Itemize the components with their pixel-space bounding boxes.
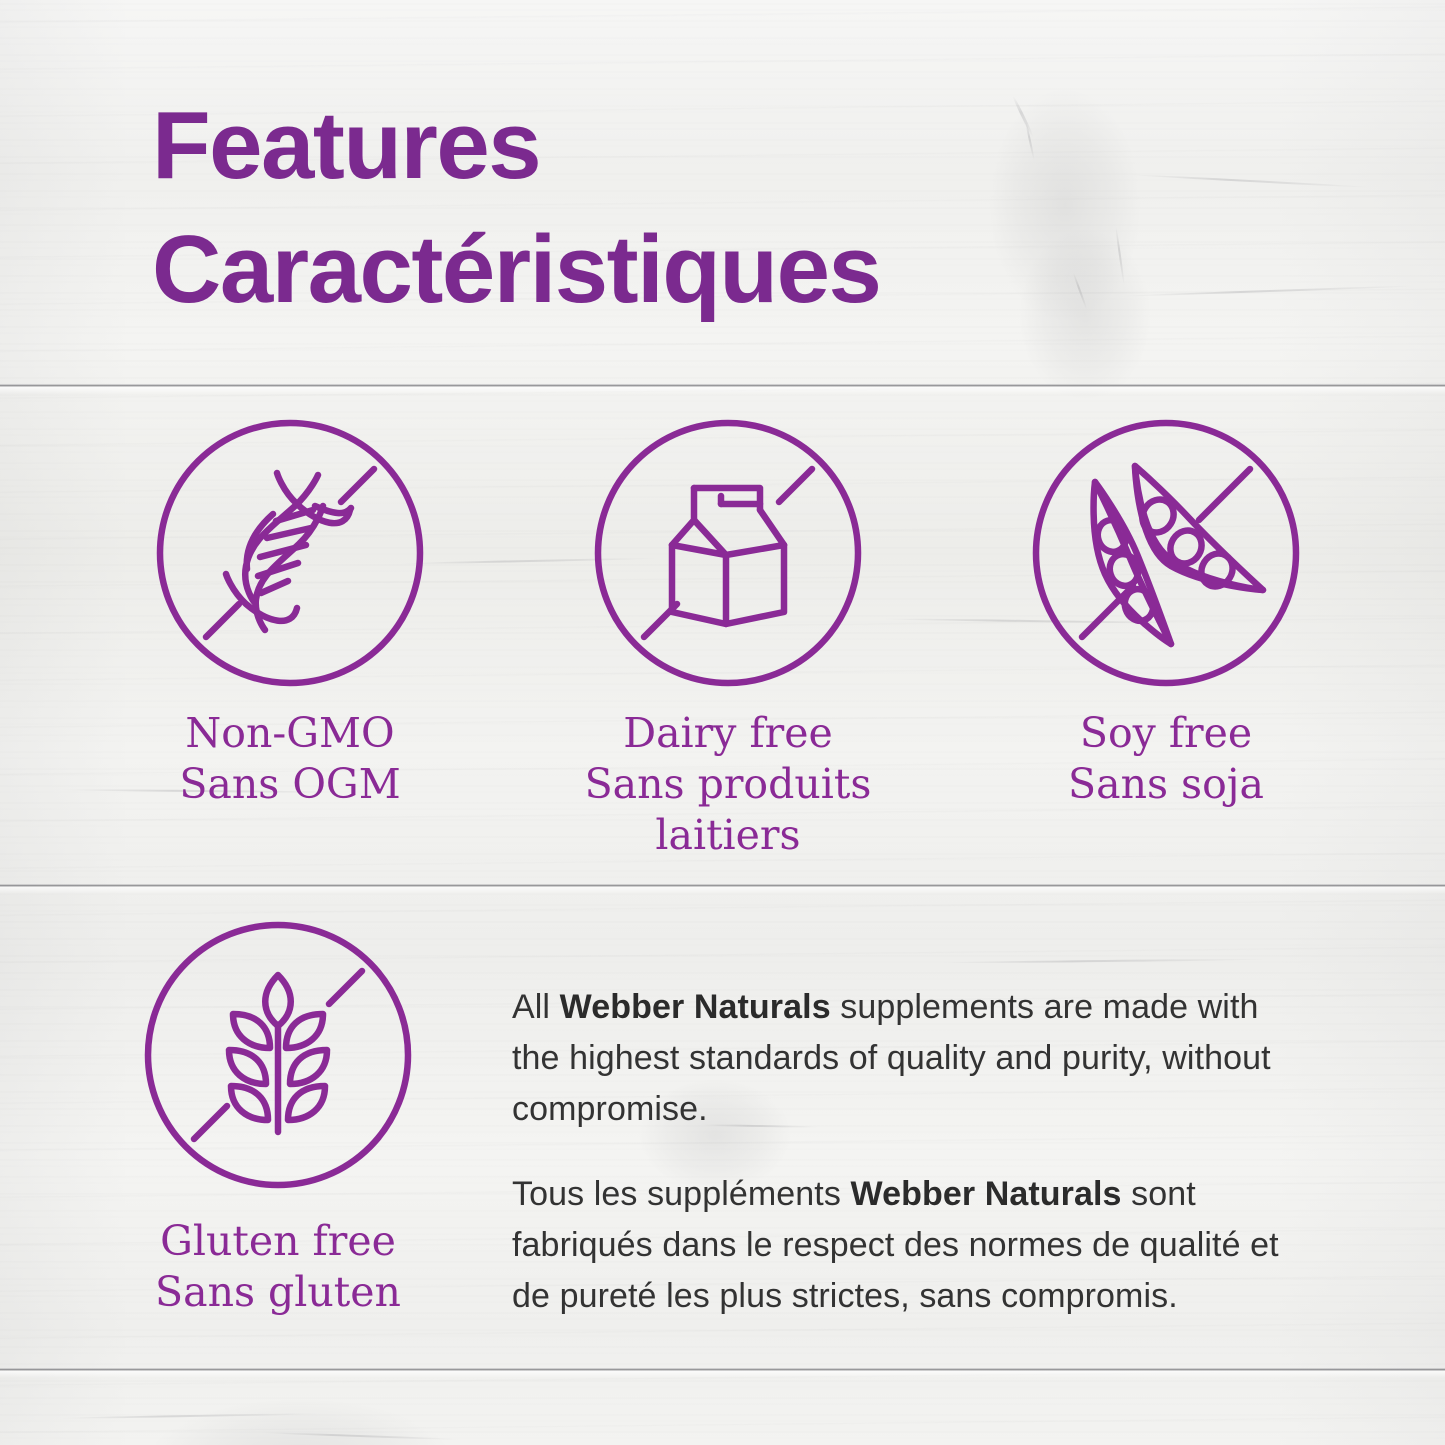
page-title-french: Caractéristiques [152,222,1252,318]
no-soy-pea-pods-icon [1031,418,1301,688]
desc-en-before: All [512,988,560,1026]
page-title-english: Features [152,98,1252,194]
feature-caption-soy-free: Soy free Sans soja [1068,708,1264,810]
feature-caption-gluten-free: Gluten free Sans gluten [155,1216,401,1318]
caption-english: Soy free [1068,708,1264,759]
bottom-section: Gluten free Sans gluten All Webber Natur… [0,920,1445,1356]
brand-name: Webber Naturals [851,1175,1122,1213]
feature-item-dairy-free: Dairy free Sans produits laitiers [506,418,950,860]
product-feature-panel: Features Caractéristiques [0,0,1445,1445]
description-text-column: All Webber Naturals supplements are made… [512,920,1302,1356]
feature-caption-dairy-free: Dairy free Sans produits laitiers [506,708,950,860]
no-gmo-dna-icon [155,418,425,688]
no-dairy-milk-carton-icon [593,418,863,688]
caption-french: Sans produits laitiers [506,759,950,861]
feature-item-soy-free: Soy free Sans soja [944,418,1388,860]
description-english: All Webber Naturals supplements are made… [512,982,1302,1135]
caption-french: Sans OGM [179,759,400,810]
caption-french: Sans soja [1068,759,1264,810]
feature-icon-row: Non-GMO Sans OGM [0,418,1445,860]
description-french: Tous les suppléments Webber Naturals son… [512,1169,1302,1322]
no-gluten-wheat-icon [143,920,413,1190]
page-title: Features Caractéristiques [152,98,1252,318]
caption-english: Dairy free [506,708,950,759]
caption-french: Sans gluten [155,1267,401,1318]
feature-item-gluten-free: Gluten free Sans gluten [60,920,496,1318]
feature-caption-non-gmo: Non-GMO Sans OGM [179,708,400,810]
desc-fr-before: Tous les suppléments [512,1175,851,1213]
brand-name: Webber Naturals [560,988,831,1026]
caption-english: Non-GMO [179,708,400,759]
feature-item-non-gmo: Non-GMO Sans OGM [68,418,512,860]
caption-english: Gluten free [155,1216,401,1267]
